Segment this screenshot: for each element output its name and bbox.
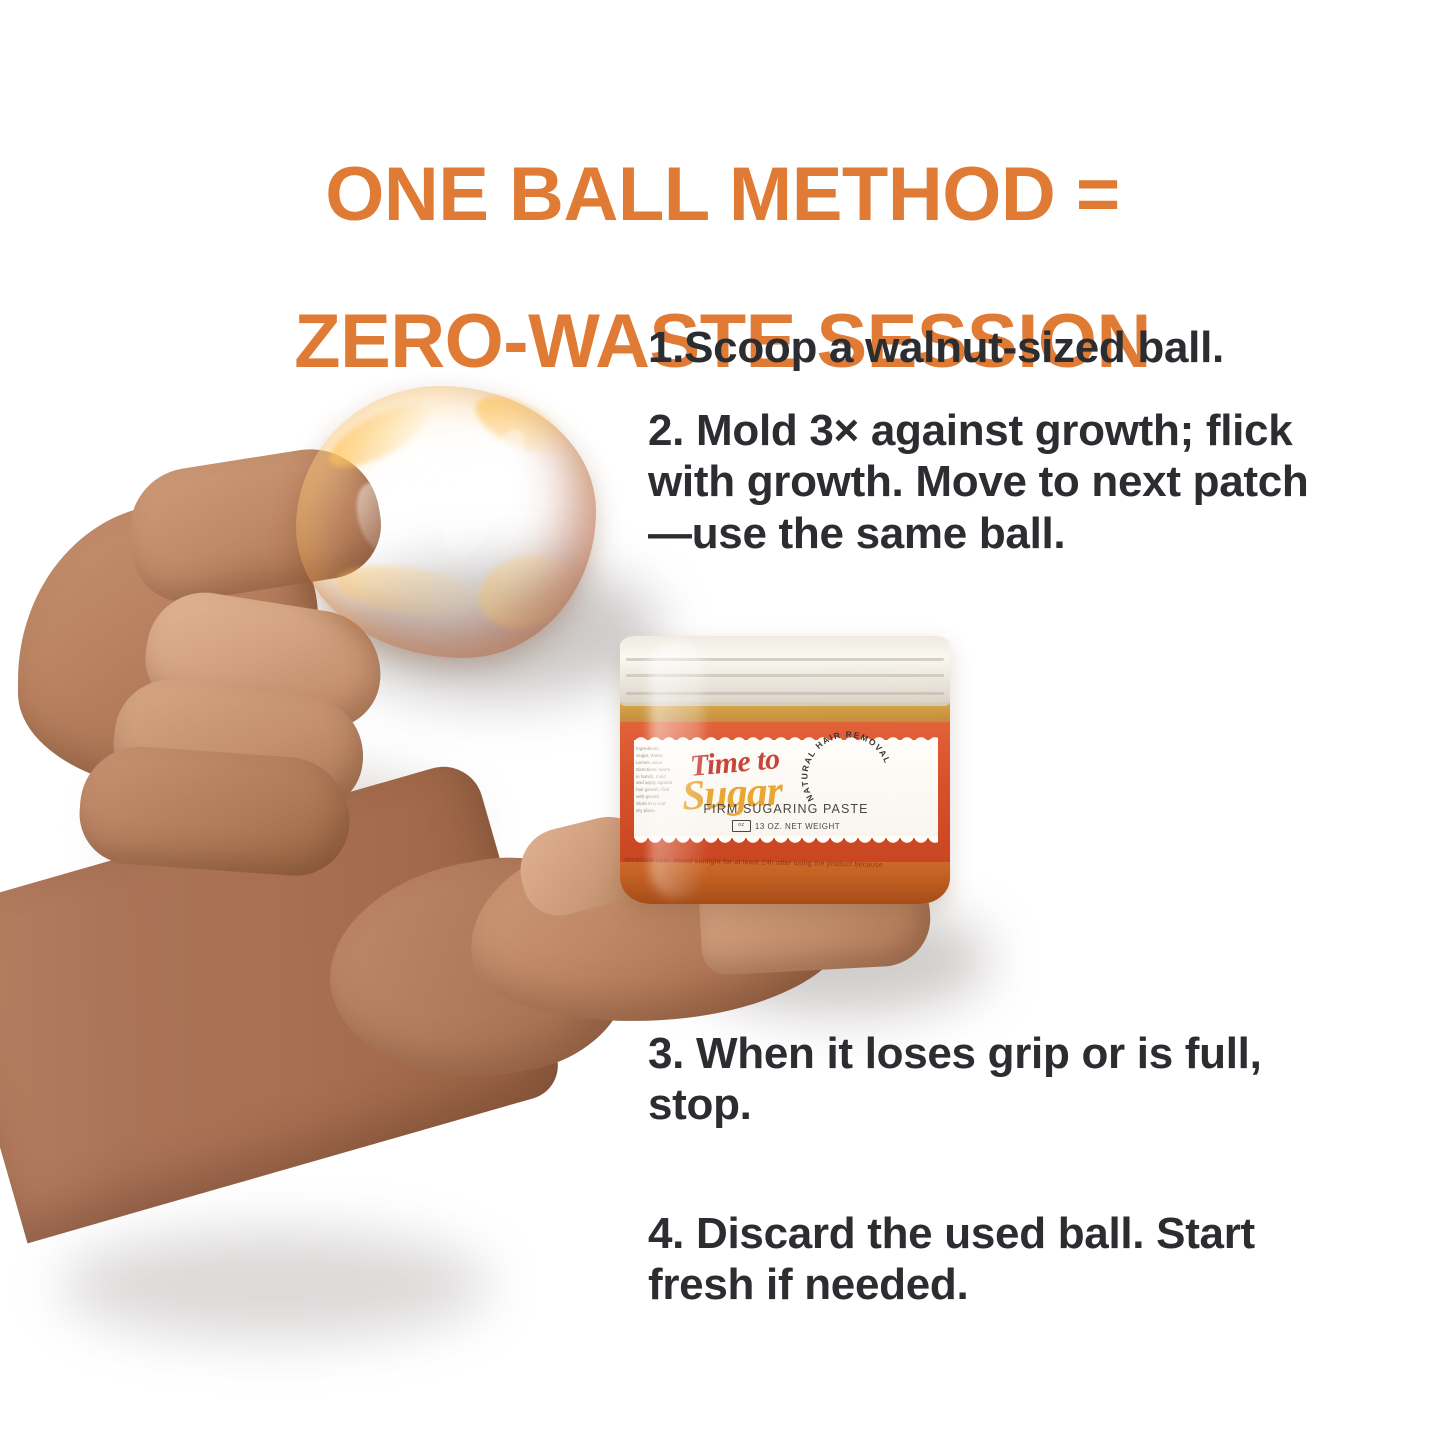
step-2-text: 2. Mold 3× against growth; flick with gr… — [648, 405, 1328, 559]
arc-tagline-text: NATURAL HAIR REMOVAL — [799, 729, 893, 803]
forearm-shadow — [180, 900, 480, 990]
open-palm — [462, 814, 857, 1036]
product-jar: Ingredients: Sugar, Water, Lemon Juice. … — [612, 636, 956, 928]
paste-texture — [620, 702, 950, 798]
infographic-canvas: ONE BALL METHOD = ZERO-WASTE SESSION — [0, 0, 1445, 1445]
title-line-1: ONE BALL METHOD = — [0, 158, 1445, 232]
step-1-text: 1.Scoop a walnut-sized ball. — [648, 322, 1368, 373]
paste-ridge — [470, 543, 583, 639]
wrist — [314, 838, 647, 1102]
hand-back — [18, 504, 318, 794]
arc-tagline: NATURAL HAIR REMOVAL — [812, 744, 916, 816]
ball-shadow — [330, 560, 660, 700]
page-title: ONE BALL METHOD = ZERO-WASTE SESSION — [0, 84, 1445, 453]
label-wave-top — [634, 733, 938, 744]
paste-contents — [620, 702, 950, 798]
net-weight-text: 13 OZ. NET WEIGHT — [755, 822, 840, 831]
rim-ring — [626, 674, 944, 677]
brand-name-line1: Time to — [689, 742, 781, 784]
forearm — [0, 757, 566, 1243]
paste-ridge — [334, 558, 489, 624]
label-red-band — [620, 722, 950, 862]
hand-holding-ball — [18, 452, 438, 872]
product-subtitle: FIRM SUGARING PASTE — [634, 802, 938, 816]
jar-glass-highlight — [650, 640, 704, 898]
paste-highlight — [350, 478, 404, 555]
rim-ring — [626, 658, 944, 661]
label-side-panel-text: Ingredients: Sugar, Water, Lemon Juice. … — [636, 746, 672, 832]
paste-highlight — [435, 462, 503, 566]
jar-shadow — [690, 905, 990, 1015]
thumb — [138, 584, 389, 735]
jar-rim — [620, 636, 950, 706]
middle-finger — [108, 673, 370, 815]
arm-shadow — [60, 1230, 490, 1340]
palm-fingers — [697, 856, 932, 976]
jar-body: Ingredients: Sugar, Water, Lemon Juice. … — [620, 636, 950, 904]
palm-thumb — [512, 807, 665, 923]
step-4-text: 4. Discard the used ball. Start fresh if… — [648, 1208, 1328, 1311]
brand-name-line2: Sugar — [681, 767, 783, 820]
rim-ring — [626, 692, 944, 695]
net-weight: oz 13 OZ. NET WEIGHT — [634, 820, 938, 832]
step-3-text: 3. When it loses grip or is full, stop. — [648, 1028, 1338, 1131]
label-white-field — [634, 740, 938, 838]
label-wave-bottom — [634, 836, 938, 847]
label-warning-text: sensitive skin. Avoid sunlight for at le… — [624, 855, 950, 871]
jar-lower-wall — [620, 850, 950, 904]
brand-logo: Time to Sugar NATURAL HAIR REMOVAL FI — [634, 740, 938, 838]
index-finger — [121, 439, 389, 608]
hand-shadow — [110, 770, 470, 890]
weight-icon: oz — [732, 820, 751, 832]
ring-finger — [76, 743, 354, 880]
